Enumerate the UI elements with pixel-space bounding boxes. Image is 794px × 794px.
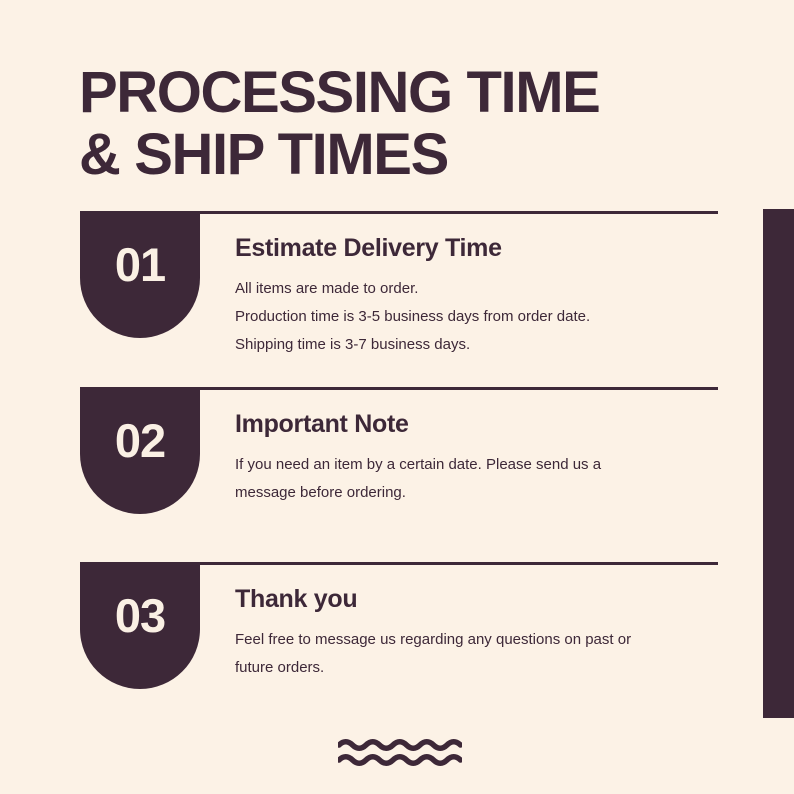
step-badge-01: 01	[80, 214, 200, 338]
step-number-label: 01	[115, 241, 165, 288]
page-title: PROCESSING TIME & SHIP TIMES	[79, 62, 719, 186]
section-heading: Thank you	[235, 584, 735, 614]
section-heading: Important Note	[235, 409, 735, 439]
step-number-label: 02	[115, 417, 165, 464]
section-body-text: All items are made to order. Production …	[235, 275, 735, 359]
step-badge-02: 02	[80, 390, 200, 514]
section-body-text: Feel free to message us regarding any qu…	[235, 626, 735, 682]
section-content: Thank you Feel free to message us regard…	[235, 584, 735, 682]
right-edge-accent-bar	[763, 209, 794, 718]
section-content: Estimate Delivery Time All items are mad…	[235, 233, 735, 359]
double-wavy-line-icon	[338, 738, 462, 770]
step-number-label: 03	[115, 592, 165, 639]
step-badge-03: 03	[80, 565, 200, 689]
section-body-text: If you need an item by a certain date. P…	[235, 451, 735, 507]
section-content: Important Note If you need an item by a …	[235, 409, 735, 507]
section-heading: Estimate Delivery Time	[235, 233, 735, 263]
